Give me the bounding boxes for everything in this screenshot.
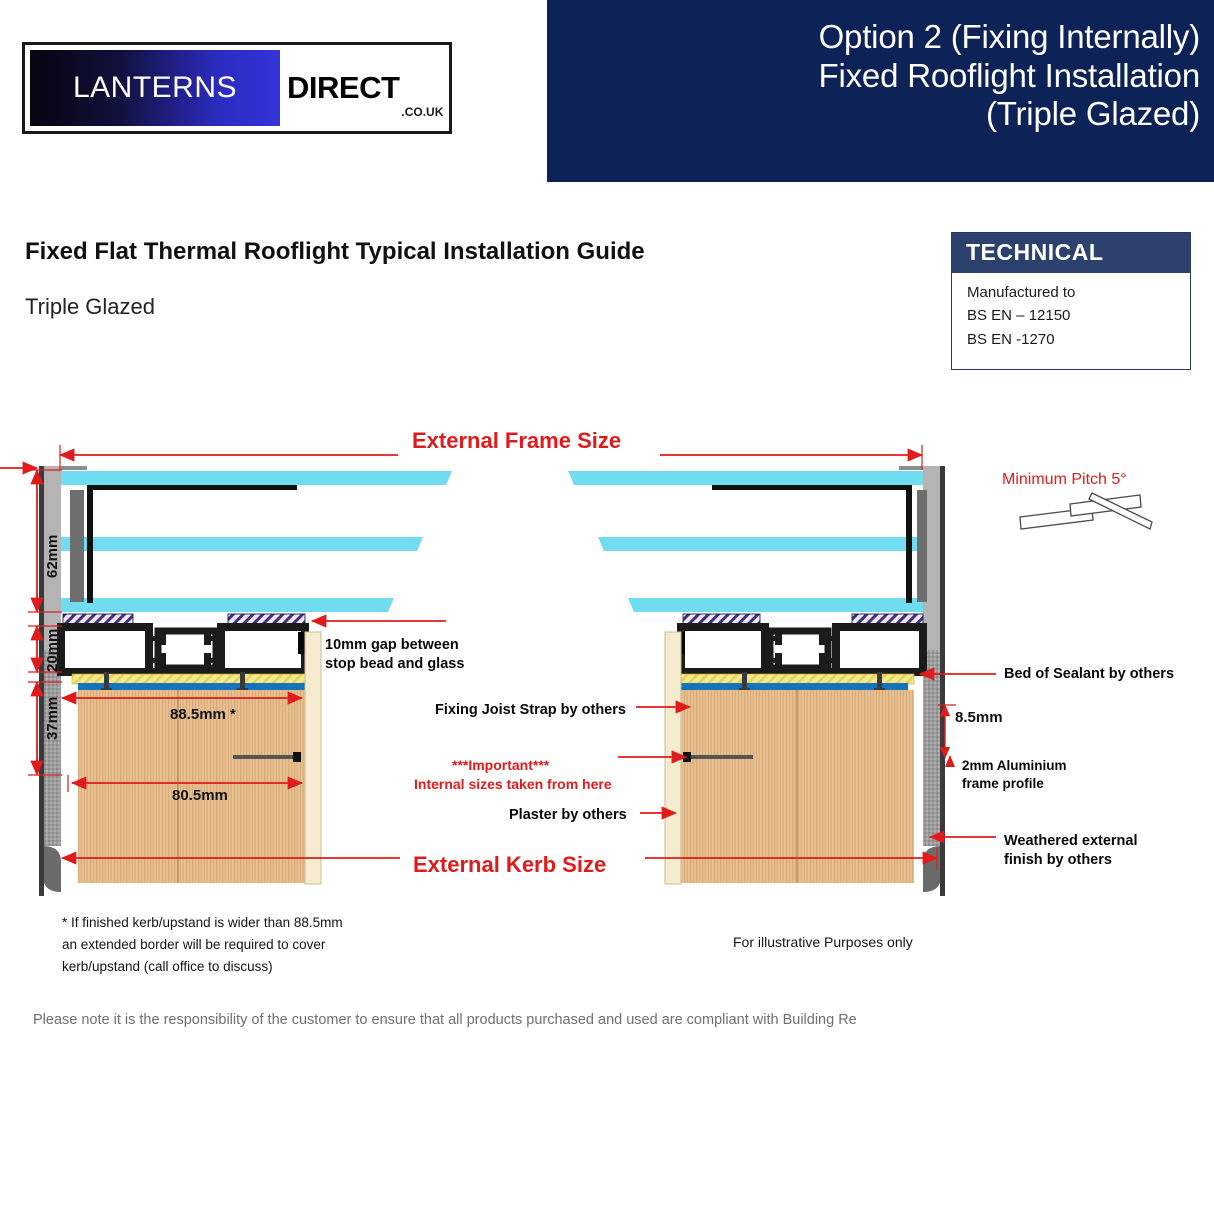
aluminium-frame-profile-right: [681, 627, 923, 674]
left-section-assembly: [39, 466, 452, 896]
callout-fixing-joist-strap: Fixing Joist Strap by others: [435, 701, 626, 720]
brand-logo[interactable]: LANTERNS DIRECT .CO.UK: [22, 42, 452, 134]
label-external-kerb-size: External Kerb Size: [413, 851, 606, 880]
footnote-kerb-width: * If finished kerb/upstand is wider than…: [62, 912, 343, 978]
callout-10mm-gap: 10mm gap between stop bead and glass: [325, 636, 464, 674]
technical-heading: TECHNICAL: [952, 233, 1190, 273]
technical-line-2: BS EN -1270: [967, 328, 1190, 351]
dimension-62mm: 62mm: [44, 535, 61, 578]
label-minimum-pitch: Minimum Pitch 5°: [1002, 470, 1127, 491]
dimension-80-5mm: 80.5mm: [172, 787, 228, 804]
callout-weathered-finish: Weathered external finish by others: [1004, 832, 1138, 870]
logo-lanterns-text: LANTERNS: [73, 71, 237, 105]
footnote-illustrative: For illustrative Purposes only: [733, 934, 913, 950]
header-title: Option 2 (Fixing Internally) Fixed Roofl…: [560, 18, 1200, 134]
callout-aluminium-profile: 2mm Aluminium frame profile: [962, 757, 1067, 792]
aluminium-frame-profile: [61, 627, 305, 674]
label-important: ***Important***: [452, 756, 549, 774]
technical-line-0: Manufactured to: [967, 281, 1190, 304]
logo-right-panel: DIRECT .CO.UK: [280, 50, 444, 126]
footer-disclaimer: Please note it is the responsibility of …: [33, 1012, 857, 1028]
callout-plaster: Plaster by others: [509, 806, 627, 825]
minimum-pitch-glyph: [1020, 493, 1152, 529]
technical-line-1: BS EN – 12150: [967, 304, 1190, 327]
page-subtitle: Triple Glazed: [25, 294, 155, 320]
right-section-assembly: [568, 466, 945, 896]
dimension-20mm: 20mm: [44, 629, 61, 672]
logo-tld-text: .CO.UK: [401, 105, 443, 126]
page-title: Fixed Flat Thermal Rooflight Typical Ins…: [25, 238, 645, 266]
logo-inner: LANTERNS DIRECT .CO.UK: [30, 50, 444, 126]
dimension-8-5mm: 8.5mm: [955, 709, 1003, 726]
logo-direct-text: DIRECT: [287, 70, 399, 106]
technical-body: Manufactured to BS EN – 12150 BS EN -127…: [952, 273, 1190, 351]
dimension-88-5mm: 88.5mm *: [170, 706, 236, 723]
dimension-37mm: 37mm: [44, 697, 61, 740]
label-internal-sizes: Internal sizes taken from here: [414, 775, 612, 793]
callout-bed-of-sealant: Bed of Sealant by others: [1004, 665, 1174, 684]
technical-box: TECHNICAL Manufactured to BS EN – 12150 …: [951, 232, 1191, 370]
logo-left-panel: LANTERNS: [30, 50, 280, 126]
label-external-frame-size: External Frame Size: [412, 427, 621, 456]
